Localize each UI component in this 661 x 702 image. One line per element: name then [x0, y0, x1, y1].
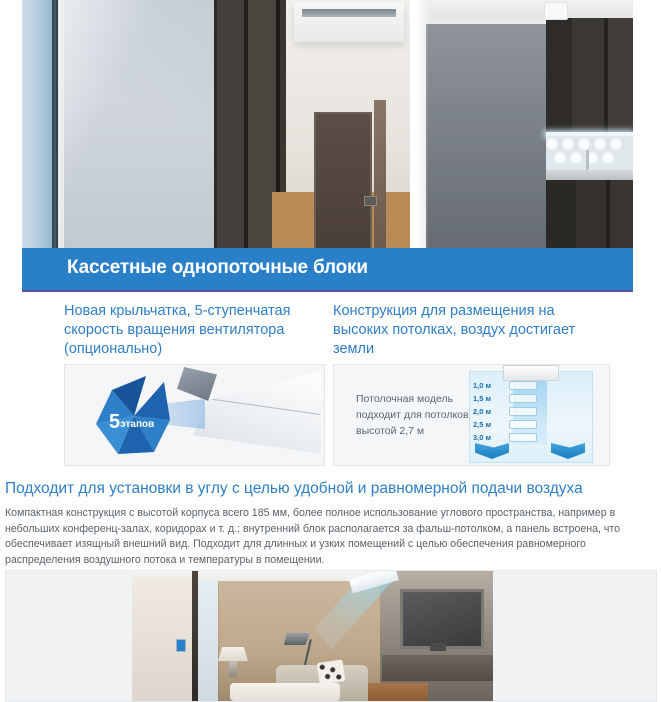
ceiling-sensor	[544, 2, 568, 20]
feature-column-left: Новая крыльчатка, 5-ступенчатая скорость…	[64, 302, 326, 359]
scale-tick-icon	[509, 420, 537, 429]
sideboard	[382, 655, 493, 681]
kitchen-scene	[418, 0, 633, 248]
title-banner: Кассетные однопоточные блоки	[22, 248, 633, 290]
feature-heading-fan: Новая крыльчатка, 5-ступенчатая скорость…	[64, 302, 326, 359]
window-mullion	[52, 0, 58, 248]
scale-label: 1,0 м	[473, 381, 503, 390]
lower-cabinets	[546, 180, 633, 248]
wall-control-panel	[176, 639, 186, 652]
bedroom-photo	[132, 571, 493, 701]
lamp-shade	[218, 647, 248, 661]
bed	[230, 683, 340, 701]
scale-row: 1,5 м	[473, 392, 553, 405]
section-body-text: Компактная конструкция с высотой корпуса…	[5, 506, 655, 568]
steps-number: 5	[109, 411, 120, 433]
floor-lamp-head	[284, 633, 310, 645]
pinwheel-icon: 5этапов	[85, 371, 183, 461]
scale-tick-icon	[509, 394, 537, 403]
hallway-photo	[22, 0, 410, 248]
scale-row: 3,0 м	[473, 431, 553, 444]
banner-title: Кассетные однопоточные блоки	[67, 257, 368, 279]
top-photo-strip	[0, 0, 661, 248]
door-frame	[374, 100, 386, 248]
steps-badge: 5этапов	[109, 411, 154, 434]
steps-word: этапов	[120, 419, 154, 430]
wall-tv	[400, 589, 484, 649]
tv-stand	[430, 643, 446, 651]
bottom-image-panel	[5, 570, 657, 702]
scale-label: 2,0 м	[473, 407, 503, 416]
scale-tick-icon	[509, 407, 537, 416]
scale-label: 1,5 м	[473, 394, 503, 403]
faucet	[586, 150, 589, 172]
section-heading: Подходит для установки в углу с целью уд…	[5, 480, 583, 498]
fan-motor-hub	[177, 367, 217, 401]
scale-row: 2,0 м	[473, 405, 553, 418]
marble-wall	[64, 0, 214, 248]
interior-door	[314, 112, 372, 248]
scale-label: 3,0 м	[473, 433, 503, 442]
banner-underline	[22, 290, 633, 292]
ceiling-height-diagram: 1,0 м 1,5 м 2,0 м 2,5 м 3,0 м	[455, 365, 605, 465]
scale-row: 2,5 м	[473, 418, 553, 431]
scale-label: 2,5 м	[473, 420, 503, 429]
scale-tick-icon	[509, 433, 537, 442]
wood-panel-wall	[426, 24, 546, 248]
lamp-base	[229, 661, 237, 677]
height-scale: 1,0 м 1,5 м 2,0 м 2,5 м 3,0 м	[473, 379, 553, 444]
ceiling-cassette-unit	[294, 2, 404, 42]
hex-tile-backsplash	[546, 136, 633, 170]
feature-column-right: Конструкция для размещения на высоких по…	[333, 302, 608, 359]
kitchen-ceiling	[418, 0, 633, 18]
kitchen-photo	[418, 0, 633, 248]
countertop	[546, 170, 633, 180]
feature-heading-ceiling: Конструкция для размещения на высоких по…	[333, 302, 608, 359]
scale-tick-icon	[509, 381, 537, 390]
scale-row: 1,0 м	[473, 379, 553, 392]
bedroom-floor	[368, 683, 428, 701]
table-lamp	[218, 647, 248, 669]
patterned-cushion	[317, 659, 346, 684]
upper-cabinets	[546, 18, 633, 136]
bedroom-window	[198, 579, 218, 701]
window-frame	[192, 571, 198, 701]
hallway-scene	[22, 0, 410, 248]
wall-control-panel	[364, 196, 377, 206]
illustration-fan-blade: 5этапов	[64, 364, 325, 466]
illustration-ceiling-height: Потолочная модель подходит для потолков …	[333, 364, 610, 466]
